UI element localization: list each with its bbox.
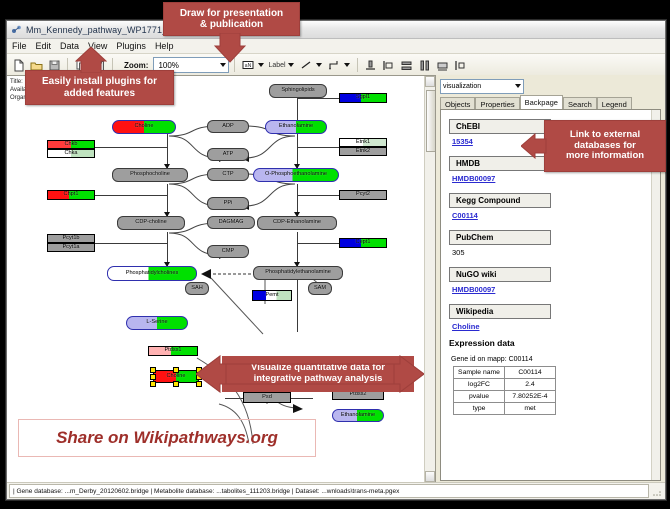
node-ethanolamine-bottom[interactable]: Ethanolamine: [332, 409, 384, 422]
bring-front-icon[interactable]: [453, 57, 469, 73]
menu-item-edit[interactable]: Edit: [36, 41, 52, 51]
callout-draw-arrow-icon: [214, 33, 246, 63]
distribute-vertical-icon[interactable]: [399, 57, 415, 73]
edge-chk-catalysis: [95, 147, 168, 148]
node-phosphatidylcholines[interactable]: Phosphatidylcholines: [107, 266, 197, 281]
expression-data-heading: Expression data: [449, 338, 654, 348]
resize-grip-icon[interactable]: [651, 485, 663, 497]
panel-tabs: Objects Properties Backpage Search Legen…: [436, 95, 665, 109]
canvas-meta-title: Title:: [10, 79, 23, 85]
cell-type-label: type: [454, 403, 505, 415]
menu-item-help[interactable]: Help: [155, 41, 174, 51]
gene-id-line: Gene id on mapp: C00114: [451, 356, 654, 363]
db-header-wikipedia: Wikipedia: [449, 304, 551, 319]
node-cept1[interactable]: Cept1: [339, 238, 387, 248]
screenshot-root: Mm_Kennedy_pathway_WP1771_45176.gpml Fil…: [0, 0, 670, 509]
edge-pe-up-spine: [297, 276, 298, 332]
node-atp[interactable]: ATP: [207, 148, 249, 161]
node-ppi[interactable]: PPi: [207, 197, 249, 210]
visualization-select-row: visualization: [436, 75, 665, 95]
node-sah[interactable]: SAH: [185, 282, 209, 295]
node-o-phosphoethanolamine[interactable]: O-Phosphoethanolamine: [253, 168, 339, 182]
canvas-meta-availability: Availa: [10, 87, 26, 93]
chevron-down-icon: [220, 63, 226, 67]
connector-dropdown[interactable]: [326, 57, 350, 73]
node-choline-top[interactable]: Choline: [112, 120, 176, 134]
node-chkb[interactable]: Chkb: [47, 140, 95, 149]
table-row: pvalue 7.80252E-4: [454, 391, 556, 403]
chevron-down-icon: [344, 63, 350, 67]
db-link-kegg[interactable]: C00114: [452, 211, 654, 220]
callout-plugins: Easily install plugins for added feature…: [25, 70, 174, 105]
toolbar-separator: [357, 58, 358, 72]
db-value-pubchem: 305: [452, 248, 654, 257]
node-cdp-choline[interactable]: CDP-choline: [117, 216, 185, 230]
canvas-scrollbar[interactable]: [424, 76, 435, 482]
new-file-icon[interactable]: [10, 57, 26, 73]
node-sam[interactable]: SAM: [308, 282, 332, 295]
group-icon[interactable]: [435, 57, 451, 73]
scroll-up-icon[interactable]: [425, 76, 435, 87]
table-row: Sample name C00114: [454, 367, 556, 379]
callout-share-text: Share on Wikipathways.org: [56, 428, 278, 448]
cell-pvalue-label: pvalue: [454, 391, 505, 403]
selection-handle[interactable]: [150, 374, 156, 380]
node-pcyt2[interactable]: Pcyt2: [339, 190, 387, 200]
pathvisio-icon: [11, 24, 22, 35]
cell-log2fc-label: log2FC: [454, 379, 505, 391]
node-cdp-ethanolamine[interactable]: CDP-Ethanolamine: [257, 216, 337, 230]
node-ptdss1[interactable]: Ptdss1: [148, 346, 198, 356]
db-header-pubchem: PubChem: [449, 230, 551, 245]
cell-sample-name-value: C00114: [505, 367, 556, 379]
status-text: | Gene database: ...m_Derby_20120602.bri…: [9, 484, 649, 498]
node-phosphatidylethanolamine[interactable]: Phosphatidylethanolamine: [253, 266, 343, 280]
line-icon: [298, 57, 314, 73]
line-dropdown[interactable]: [298, 57, 322, 73]
db-header-kegg: Kegg Compound: [449, 193, 551, 208]
chevron-down-icon: [288, 63, 294, 67]
callout-draw: Draw for presentation & publication: [163, 2, 300, 36]
callout-plugins-line2: added features: [64, 88, 135, 100]
edge-sgpl1-catalysis: [297, 98, 339, 99]
node-sphingolipids[interactable]: Sphingolipids: [269, 84, 327, 98]
node-cmp[interactable]: CMP: [207, 245, 249, 258]
node-chka[interactable]: Chka: [47, 149, 95, 158]
node-pcyt1b[interactable]: Pcyt1b: [47, 234, 95, 243]
node-pcyt1a[interactable]: Pcyt1a: [47, 243, 95, 252]
align-bottom-icon[interactable]: [363, 57, 379, 73]
db-link-nugo-wiki[interactable]: HMDB00097: [452, 285, 654, 294]
callout-draw-line2: & publication: [200, 19, 263, 31]
node-dagmag[interactable]: DAGMAG: [207, 216, 255, 229]
node-adp[interactable]: ADP: [207, 120, 249, 133]
node-ctp[interactable]: CTP: [207, 168, 249, 181]
table-row: log2FC 2.4: [454, 379, 556, 391]
db-link-hmdb[interactable]: HMDB00097: [452, 174, 654, 183]
cell-type-value: met: [505, 403, 556, 415]
distribute-horizontal-icon[interactable]: [417, 57, 433, 73]
edge-pcyt1-catalysis: [95, 243, 168, 244]
cell-sample-name-label: Sample name: [454, 367, 505, 379]
selection-handle[interactable]: [150, 381, 156, 387]
callout-links-line1: Link to external: [570, 130, 640, 141]
table-row: type met: [454, 403, 556, 415]
tab-backpage[interactable]: Backpage: [520, 95, 563, 109]
edge-cdpetn-ptdetn: [297, 232, 298, 266]
selection-handle[interactable]: [173, 381, 179, 387]
chevron-down-icon: [515, 84, 521, 88]
scroll-thumb[interactable]: [426, 90, 436, 152]
menu-item-plugins[interactable]: Plugins: [116, 41, 146, 51]
status-bar: | Gene database: ...m_Derby_20120602.bri…: [7, 482, 665, 499]
node-etnk2[interactable]: Etnk2: [339, 147, 387, 156]
title-bar: Mm_Kennedy_pathway_WP1771_45176.gpml: [7, 21, 665, 39]
scroll-down-icon[interactable]: [425, 471, 435, 482]
edge-etnk-catalysis: [297, 147, 339, 148]
node-l-serine-left[interactable]: L-Serine: [126, 316, 188, 330]
label-dropdown[interactable]: Label: [268, 62, 293, 69]
menu-item-file[interactable]: File: [12, 41, 27, 51]
selection-handle[interactable]: [150, 367, 156, 373]
callout-links: Link to external databases for more info…: [544, 120, 666, 172]
callout-draw-line1: Draw for presentation: [180, 8, 283, 20]
label-dropdown-text: Label: [268, 62, 285, 69]
edge-cept1-catalysis: [297, 243, 339, 244]
callout-plugins-arrow-icon: [75, 47, 107, 73]
chevron-down-icon: [258, 63, 264, 67]
db-header-nugo-wiki: NuGO wiki: [449, 267, 551, 282]
callout-share: Share on Wikipathways.org: [18, 419, 316, 457]
callout-links-line3: more information: [566, 151, 644, 162]
cell-log2fc-value: 2.4: [505, 379, 556, 391]
zoom-value: 100%: [156, 61, 178, 70]
edge-pcyt2-catalysis: [297, 195, 339, 196]
visualization-select[interactable]: visualization: [440, 79, 524, 94]
cell-pvalue-value: 7.80252E-4: [505, 391, 556, 403]
node-chpt1[interactable]: Chpt1: [47, 190, 95, 200]
connector-icon: [326, 57, 342, 73]
svg-text:aN: aN: [245, 63, 252, 69]
visualization-value: visualization: [443, 83, 481, 90]
edge-chpt1-catalysis: [95, 195, 168, 196]
node-sgpl1[interactable]: Sgpl1: [339, 93, 387, 103]
db-header-chebi: ChEBI: [449, 119, 551, 134]
callout-links-arrow-icon: [521, 133, 547, 159]
db-link-wikipedia[interactable]: Choline: [452, 322, 654, 331]
node-pemt[interactable]: Pemt: [252, 290, 292, 301]
callout-visualize-arrow-icon: [196, 352, 424, 396]
node-ethanolamine-top[interactable]: Ethanolamine: [265, 120, 327, 134]
callout-plugins-line1: Easily install plugins for: [42, 76, 157, 88]
chevron-down-icon: [316, 63, 322, 67]
zoom-label: Zoom:: [124, 61, 148, 70]
node-etnk1[interactable]: Etnk1: [339, 138, 387, 147]
expression-table: Sample name C00114 log2FC 2.4 pvalue 7.8…: [453, 366, 556, 415]
node-phosphocholine[interactable]: Phosphocholine: [112, 168, 188, 182]
align-left-icon[interactable]: [381, 57, 397, 73]
